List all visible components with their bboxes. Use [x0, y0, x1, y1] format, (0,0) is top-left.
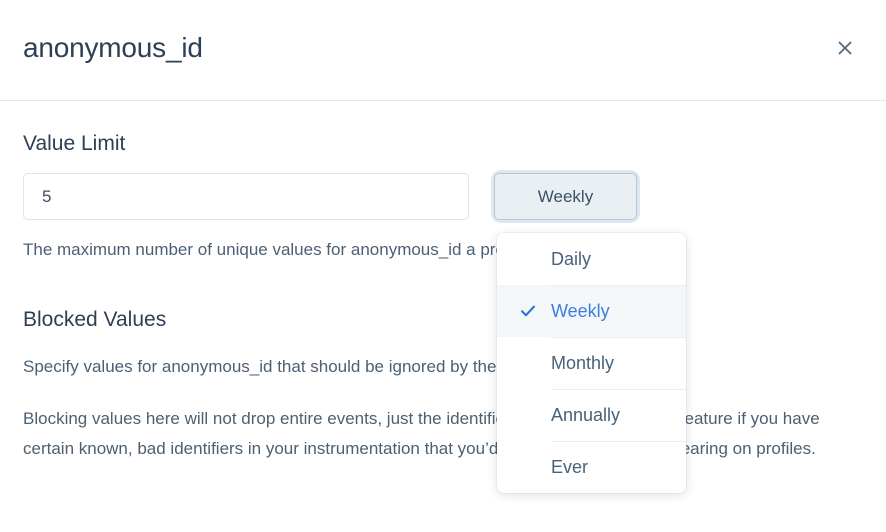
- modal-header: anonymous_id: [0, 0, 886, 101]
- value-limit-label: Value Limit: [23, 130, 863, 158]
- page-title: anonymous_id: [23, 29, 203, 67]
- close-icon[interactable]: [831, 34, 859, 62]
- menu-item-monthly[interactable]: Monthly: [497, 337, 686, 389]
- value-limit-helper-text: The maximum number of unique values for …: [23, 237, 863, 262]
- value-limit-field-row: Weekly: [23, 173, 863, 220]
- blocked-values-description-two: Blocking values here will not drop entir…: [23, 404, 863, 464]
- blocked-values-description-one: Specify values for anonymous_id that sho…: [23, 352, 863, 382]
- menu-item-daily[interactable]: Daily: [497, 233, 686, 285]
- menu-item-weekly[interactable]: Weekly: [497, 285, 686, 337]
- menu-item-ever[interactable]: Ever: [497, 441, 686, 493]
- menu-item-label: Annually: [551, 405, 620, 426]
- period-select-wrapper: Weekly: [494, 173, 637, 220]
- period-dropdown-menu[interactable]: Daily Weekly Monthly: [497, 233, 686, 493]
- period-select-button[interactable]: Weekly: [494, 173, 637, 220]
- check-icon: [519, 302, 537, 320]
- modal-body: Value Limit Weekly The maximum number of…: [0, 101, 886, 532]
- settings-modal: anonymous_id Value Limit Weekly The maxi…: [0, 0, 886, 532]
- menu-item-label: Weekly: [551, 301, 610, 322]
- blocked-values-heading: Blocked Values: [23, 306, 863, 334]
- value-limit-input[interactable]: [23, 173, 469, 220]
- menu-item-label: Ever: [551, 457, 588, 478]
- menu-item-label: Daily: [551, 249, 591, 270]
- menu-item-label: Monthly: [551, 353, 614, 374]
- menu-item-annually[interactable]: Annually: [497, 389, 686, 441]
